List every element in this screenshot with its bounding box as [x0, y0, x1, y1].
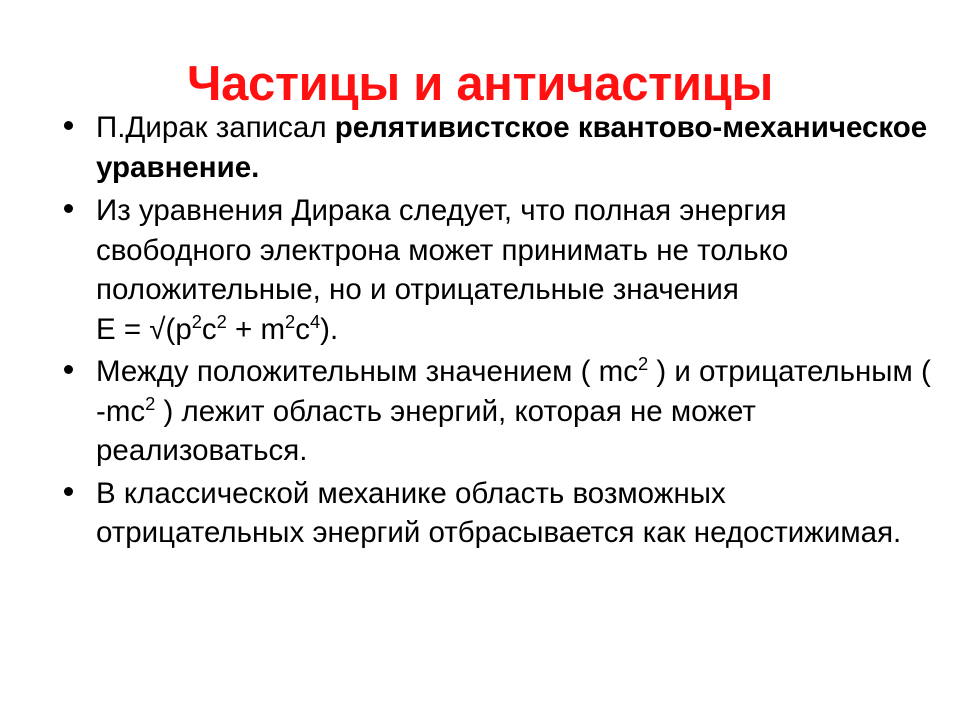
- formula-plus: +: [227, 313, 261, 346]
- list-item: В классической механике область возможны…: [58, 474, 938, 553]
- formula-c1-base: c: [202, 313, 217, 346]
- formula-m-base: m: [260, 313, 285, 346]
- formula-c1-exp: 2: [217, 311, 227, 332]
- bullet-3-text: Между положительным значением ( mc2 ) и …: [96, 352, 938, 471]
- bullet-3-exp-a: 2: [638, 353, 648, 374]
- slide-canvas: Частицы и античастицы П.Дирак записал ре…: [0, 0, 960, 720]
- formula-p-base: p: [175, 313, 191, 346]
- list-item: П.Дирак записал релятивистское квантово-…: [58, 108, 938, 187]
- bullet-1-text: П.Дирак записал релятивистское квантово-…: [96, 108, 938, 187]
- bullet-dot-icon: [64, 365, 73, 374]
- bullet-3-exp-b: 2: [145, 393, 155, 414]
- bullet-2-lead: Из уравнения Дирака следует, что полная …: [96, 194, 788, 306]
- list-item: Между положительным значением ( mc2 ) и …: [58, 352, 938, 471]
- bullet-2-text: Из уравнения Дирака следует, что полная …: [96, 191, 938, 349]
- formula-m-exp: 2: [285, 311, 295, 332]
- formula-c2-base: c: [295, 313, 310, 346]
- bullet-dot-icon: [64, 487, 73, 496]
- bullet-dot-icon: [64, 204, 73, 213]
- formula-radical: √(: [149, 313, 175, 346]
- formula-lhs: E =: [96, 313, 149, 346]
- formula-c2-exp: 4: [310, 311, 320, 332]
- bullet-3-part-c: ) лежит область энергий, которая не може…: [96, 395, 756, 468]
- formula-p-exp: 2: [192, 311, 202, 332]
- page-title: Частицы и античастицы: [0, 55, 960, 113]
- formula-close: ).: [320, 313, 338, 346]
- bullet-4-text: В классической механике область возможны…: [96, 474, 938, 553]
- energy-formula: E = √(p2c2 + m2c4).: [96, 310, 938, 350]
- list-item: Из уравнения Дирака следует, что полная …: [58, 191, 938, 349]
- bullet-3-part-a: Между положительным значением ( mc: [96, 355, 638, 388]
- bullet-1-lead: П.Дирак записал: [96, 111, 335, 144]
- bullet-dot-icon: [64, 121, 73, 130]
- bullet-list: П.Дирак записал релятивистское квантово-…: [58, 108, 938, 553]
